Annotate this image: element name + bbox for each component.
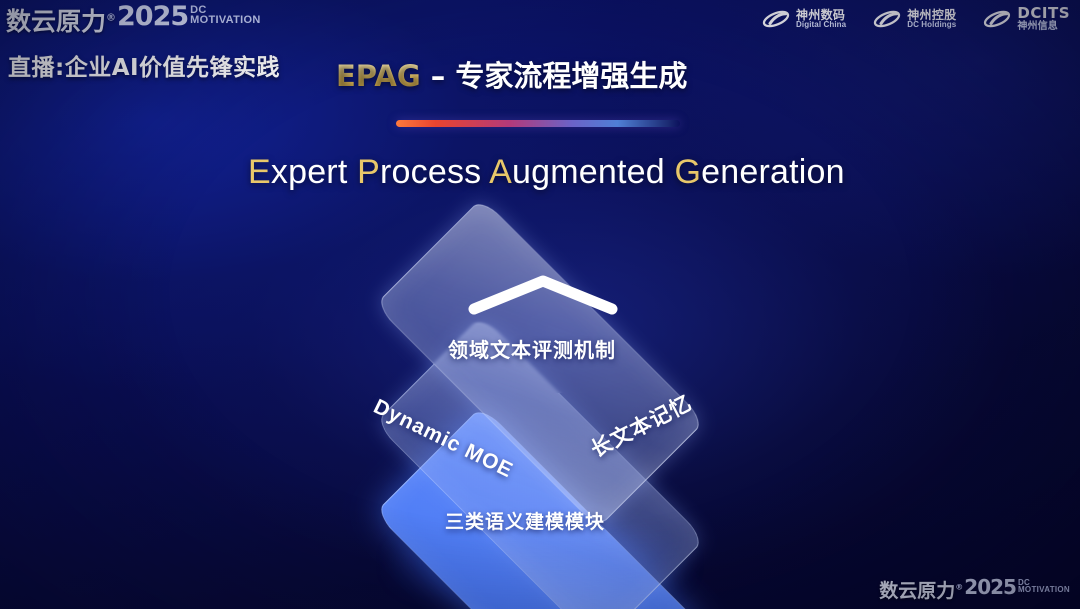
- watermark-motivation-line: MOTIVATION: [1018, 586, 1070, 594]
- subtitle-cap-e: E: [248, 153, 271, 191]
- brand-motivation-line: MOTIVATION: [190, 15, 260, 26]
- partner-logo-text: 神州控股 DC Holdings: [907, 9, 956, 30]
- partner-logo-dc-holdings: 神州控股 DC Holdings: [872, 7, 956, 31]
- brand-name-cn: 数云原力®: [6, 2, 116, 38]
- subtitle-cap-g: G: [675, 153, 702, 191]
- partner-name-en: DCITS: [1017, 6, 1070, 22]
- accent-divider-bar: [396, 120, 680, 127]
- page-title-acronym: EPAG: [336, 59, 421, 93]
- swirl-icon: [761, 7, 791, 31]
- subtitle-cap-p: P: [357, 153, 380, 191]
- layered-architecture-diagram: 领域文本评测机制 Dynamic MOE 长文本记忆 三类语义建模模块: [280, 215, 800, 585]
- watermark-motivation-lockup: DC MOTIVATION: [1018, 579, 1070, 594]
- partner-logo-digital-china: 神州数码 Digital China: [761, 7, 846, 31]
- page-title-chinese: – 专家流程增强生成: [421, 59, 688, 93]
- partner-logo-dcits: DCITS 神州信息: [982, 6, 1070, 32]
- chevron-up-icon: [466, 273, 620, 315]
- subtitle-word-generation: eneration: [701, 153, 845, 191]
- subtitle-cap-a: A: [489, 153, 512, 191]
- watermark-year: 2025: [964, 577, 1016, 597]
- subtitle-word-augmented: ugmented: [512, 153, 674, 191]
- swirl-icon: [872, 7, 902, 31]
- partner-logo-text: 神州数码 Digital China: [796, 9, 846, 30]
- subtitle-word-expert: xpert: [271, 153, 357, 191]
- watermark-name-cn: 数云原力®: [879, 576, 963, 603]
- subtitle-word-process: rocess: [380, 153, 489, 191]
- diagram-label-bottom: 三类语义建模模块: [445, 507, 605, 534]
- registered-mark: ®: [106, 13, 116, 24]
- swirl-icon: [982, 7, 1012, 31]
- watermark-registered-mark: ®: [955, 583, 963, 592]
- partner-logo-group: 神州数码 Digital China 神州控股 DC Holdings DCIT…: [761, 6, 1070, 32]
- partner-logo-text: DCITS 神州信息: [1017, 6, 1070, 32]
- brand-watermark-bottom-right: 数云原力® 2025 DC MOTIVATION: [879, 576, 1070, 603]
- diagram-label-top: 领域文本评测机制: [448, 334, 616, 363]
- partner-name-cn: 神州信息: [1017, 22, 1070, 33]
- page-title: EPAG – 专家流程增强生成: [336, 53, 687, 95]
- slide-canvas: 数云原力® 2025 DC MOTIVATION 直播:企业AI价值先锋实践 神…: [0, 0, 1080, 609]
- brand-logo-top-left: 数云原力® 2025 DC MOTIVATION: [6, 2, 261, 38]
- partner-name-en: DC Holdings: [907, 21, 956, 29]
- brand-motivation-lockup: DC MOTIVATION: [190, 5, 260, 26]
- live-stream-title: 直播:企业AI价值先锋实践: [8, 48, 280, 82]
- page-subtitle: Expert Process Augmented Generation: [248, 153, 845, 192]
- brand-year: 2025: [117, 3, 188, 30]
- partner-name-en: Digital China: [796, 21, 846, 29]
